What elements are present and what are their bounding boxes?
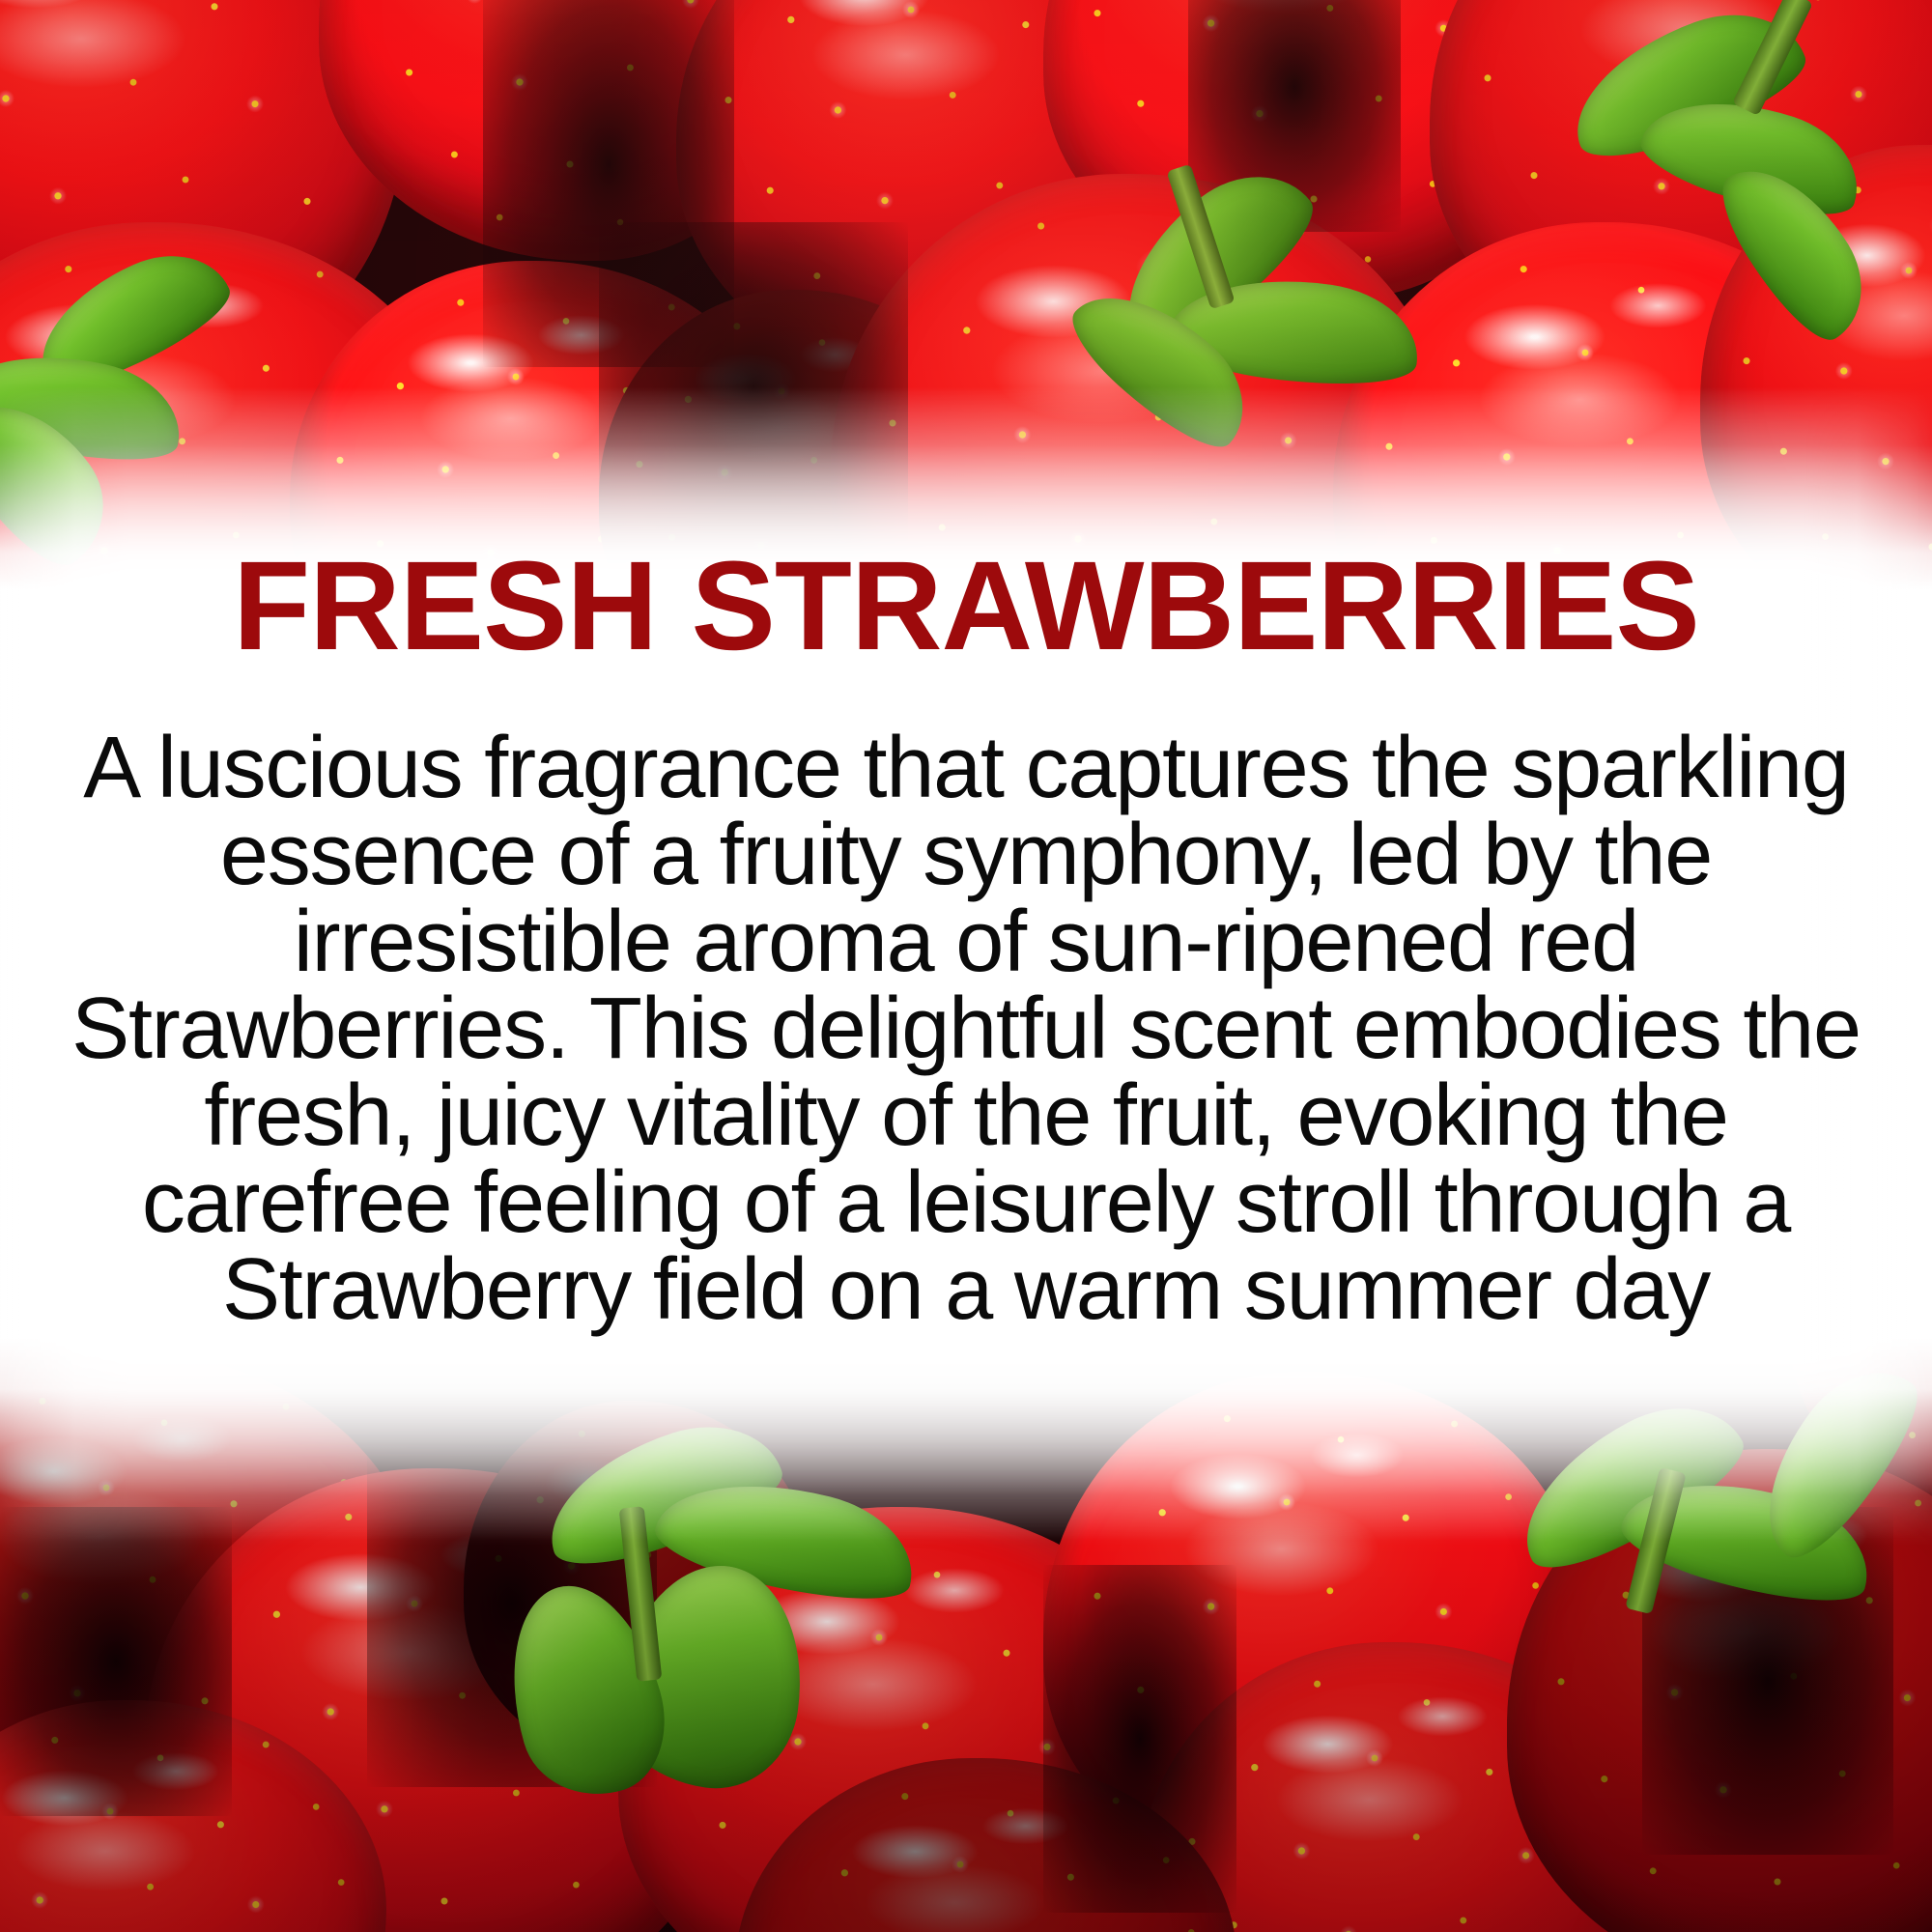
page-title: FRESH STRAWBERRIES [0,541,1932,670]
strawberry-product-poster: FRESH STRAWBERRIES A luscious fragrance … [0,0,1932,1932]
poster-text-block: FRESH STRAWBERRIES A luscious fragrance … [0,541,1932,1333]
berry-crevice [0,1507,232,1816]
berry-crevice [1043,1565,1236,1913]
berry-crevice [599,222,908,551]
product-description: A luscious fragrance that captures the s… [39,724,1893,1333]
